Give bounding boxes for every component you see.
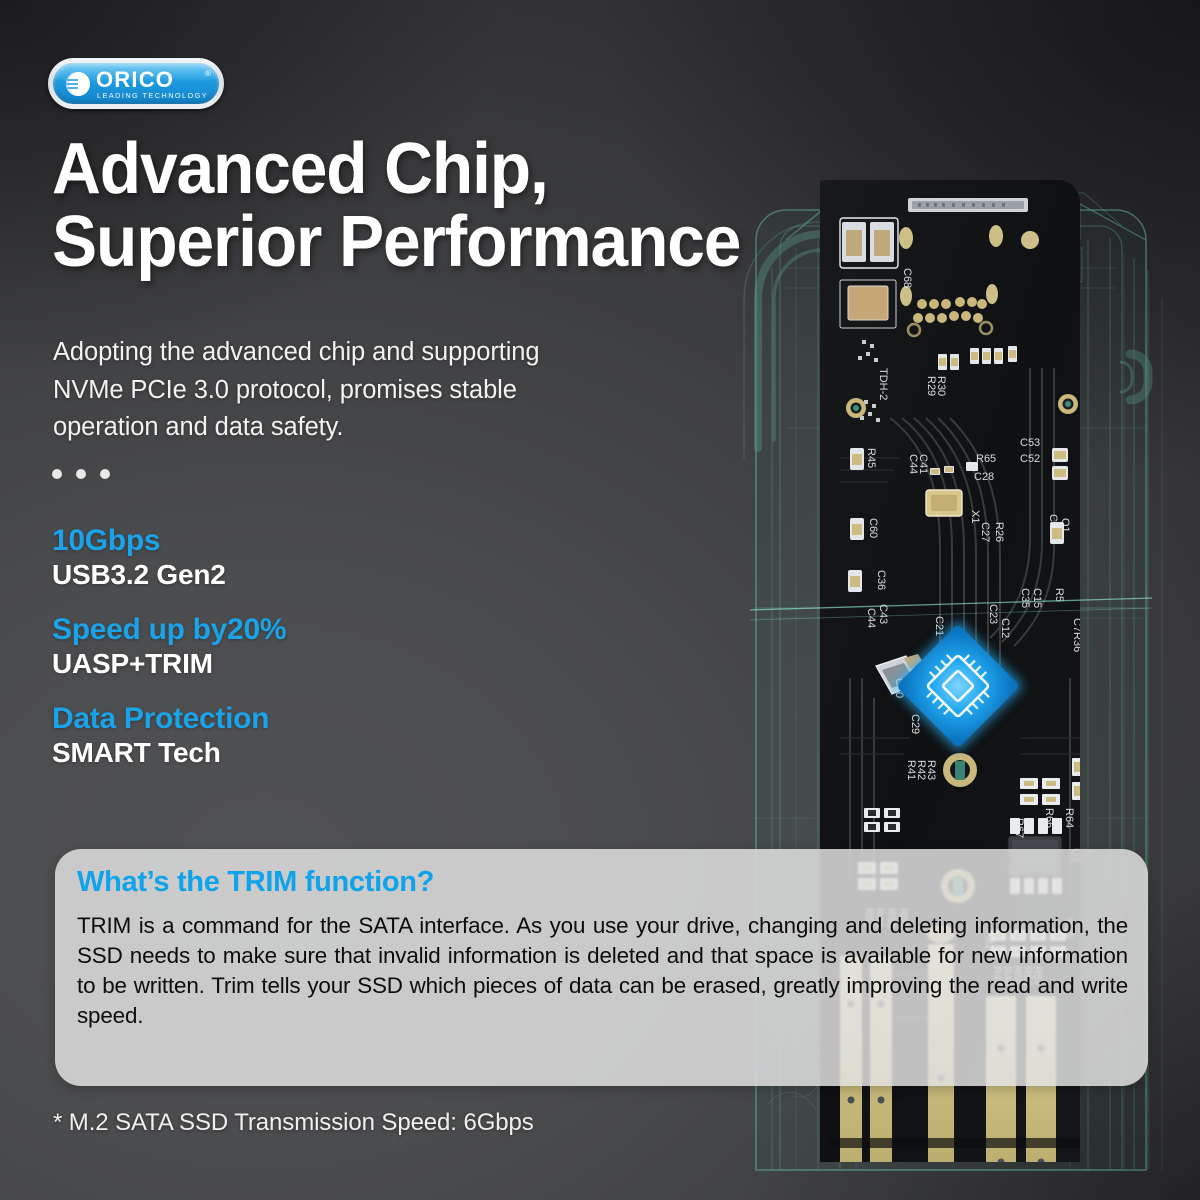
svg-text:C52: C52: [1020, 453, 1040, 465]
svg-text:C12: C12: [999, 618, 1011, 638]
footnote-text: * M.2 SATA SSD Transmission Speed: 6Gbps: [53, 1109, 534, 1137]
svg-text:R66: R66: [1043, 808, 1055, 828]
svg-text:C44: C44: [907, 454, 919, 474]
svg-text:R67: R67: [1013, 818, 1025, 838]
logo-inner-pill: ORICO ® LEADING TECHNOLOGY: [53, 63, 219, 104]
svg-text:R41: R41: [905, 760, 917, 780]
svg-text:C35: C35: [1019, 588, 1031, 608]
feature-item-uasp: Speed up by20% UASP+TRIM: [52, 613, 482, 680]
trim-panel-title: What’s the TRIM function?: [77, 866, 434, 899]
logo-wordmark: ORICO: [96, 69, 174, 91]
feature-title: Speed up by20%: [52, 613, 482, 647]
trim-panel-body: TRIM is a command for the SATA interface…: [77, 911, 1128, 1031]
svg-text:TDH-2: TDH-2: [877, 368, 889, 400]
svg-text:R5: R5: [1053, 588, 1065, 602]
separator-dots: [52, 469, 110, 479]
feature-title: Data Protection: [52, 702, 482, 736]
svg-text:C29: C29: [909, 714, 921, 734]
svg-text:C36: C36: [875, 570, 887, 590]
feature-title: 10Gbps: [52, 524, 482, 558]
registered-mark: ®: [205, 70, 211, 78]
svg-text:C53: C53: [1020, 437, 1040, 449]
feature-subtitle: SMART Tech: [52, 737, 482, 769]
svg-text:R29: R29: [925, 376, 937, 396]
orico-logo: ORICO ® LEADING TECHNOLOGY: [48, 58, 224, 109]
svg-text:C27: C27: [979, 522, 991, 542]
svg-text:C60: C60: [867, 518, 879, 538]
subtitle-paragraph: Adopting the advanced chip and supportin…: [53, 334, 673, 447]
feature-item-speed: 10Gbps USB3.2 Gen2: [52, 524, 482, 591]
svg-text:C23: C23: [987, 604, 999, 624]
svg-text:C43: C43: [877, 604, 889, 624]
svg-text:Q1: Q1: [1059, 518, 1071, 533]
promo-banner: C68 TDH-2 R30 R29 R45 C41 C44 C60 C36 C4…: [0, 0, 1200, 1200]
svg-text:C68: C68: [901, 268, 913, 288]
feature-list: 10Gbps USB3.2 Gen2 Speed up by20% UASP+T…: [52, 524, 482, 791]
svg-text:C4: C4: [1047, 514, 1059, 528]
dot-icon: [100, 469, 110, 479]
svg-text:R64: R64: [1063, 808, 1075, 828]
page-title: Advanced Chip, Superior Performance: [52, 133, 832, 280]
dot-icon: [76, 469, 86, 479]
logo-tagline: LEADING TECHNOLOGY: [97, 92, 208, 99]
feature-subtitle: UASP+TRIM: [52, 648, 482, 680]
svg-text:R45: R45: [865, 448, 877, 468]
svg-text:C44: C44: [865, 608, 877, 628]
feature-subtitle: USB3.2 Gen2: [52, 559, 482, 591]
svg-text:C28: C28: [974, 471, 994, 483]
svg-text:C15: C15: [1031, 588, 1043, 608]
svg-text:R26: R26: [993, 522, 1005, 542]
dot-icon: [52, 469, 62, 479]
svg-text:R65: R65: [976, 453, 996, 465]
orico-globe-icon: [65, 71, 91, 97]
feature-item-protection: Data Protection SMART Tech: [52, 702, 482, 769]
trim-info-panel: What’s the TRIM function? TRIM is a comm…: [55, 849, 1148, 1086]
